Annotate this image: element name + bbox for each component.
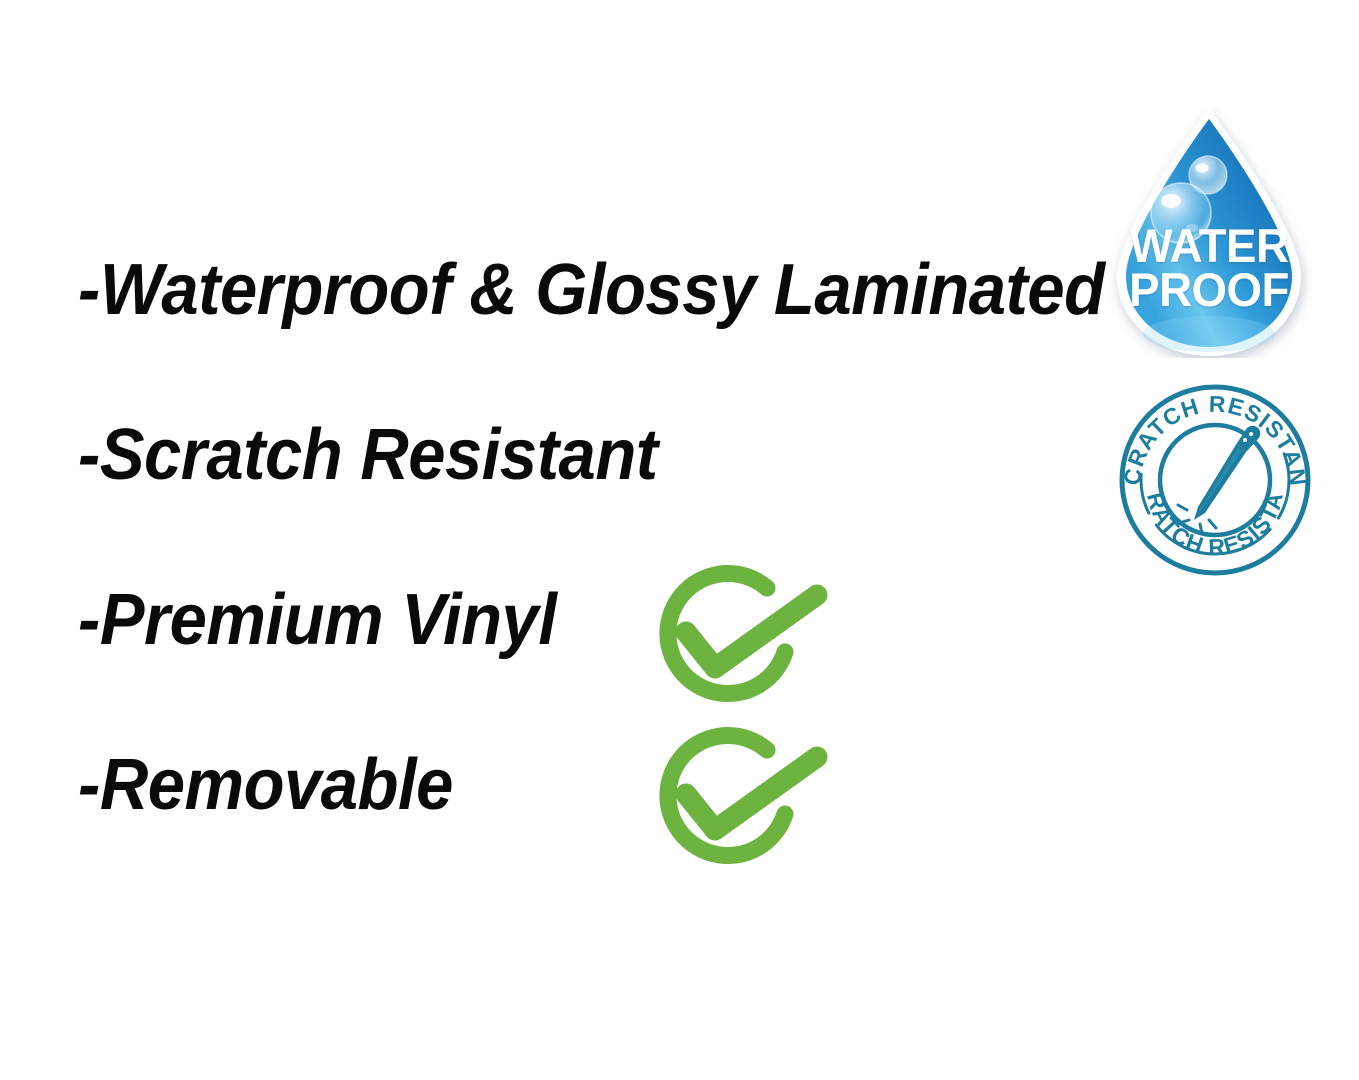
list-item: -Premium Vinyl	[78, 582, 1128, 747]
seal-top-text: SCRATCH RESISTANT	[1118, 383, 1311, 488]
feature-label-scratch-resistant: -Scratch Resistant	[78, 417, 658, 493]
list-item: -Scratch Resistant	[78, 417, 1128, 582]
feature-list: -Waterproof & Glossy Laminated -Scratch …	[78, 252, 1128, 912]
scratch-resistant-badge: SCRATCH RESISTANT SCRATCH RESISTANT	[1118, 383, 1312, 577]
check-stroke	[686, 757, 817, 830]
waterproof-badge: WATER PROOF	[1105, 106, 1313, 358]
knife-icon	[1178, 426, 1260, 534]
promo-feature-panel: -Waterproof & Glossy Laminated -Scratch …	[0, 0, 1359, 1080]
check-mark-removable-icon	[645, 722, 835, 882]
bubble-icon	[1151, 183, 1211, 243]
list-item: -Waterproof & Glossy Laminated	[78, 252, 1128, 417]
check-mark-premium-vinyl-icon	[645, 560, 835, 720]
feature-label-waterproof: -Waterproof & Glossy Laminated	[78, 252, 1105, 328]
list-item: -Removable	[78, 747, 1128, 912]
check-stroke	[686, 595, 817, 668]
feature-label-premium-vinyl: -Premium Vinyl	[78, 582, 556, 658]
feature-label-removable: -Removable	[78, 747, 453, 823]
